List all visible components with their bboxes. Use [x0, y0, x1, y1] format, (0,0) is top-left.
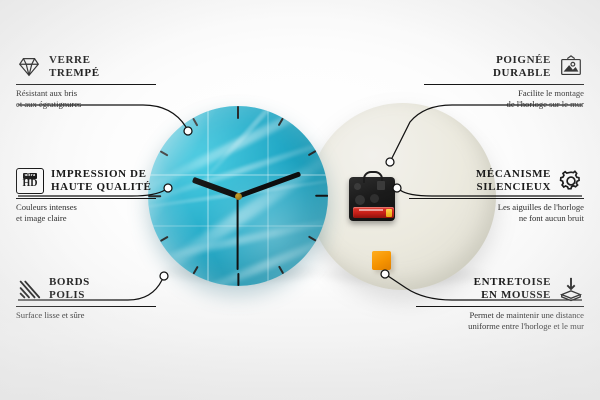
- vignette-overlay: [0, 0, 600, 400]
- product-infographic: VERRE TREMPÉ Résistant aux bris et aux é…: [0, 0, 600, 400]
